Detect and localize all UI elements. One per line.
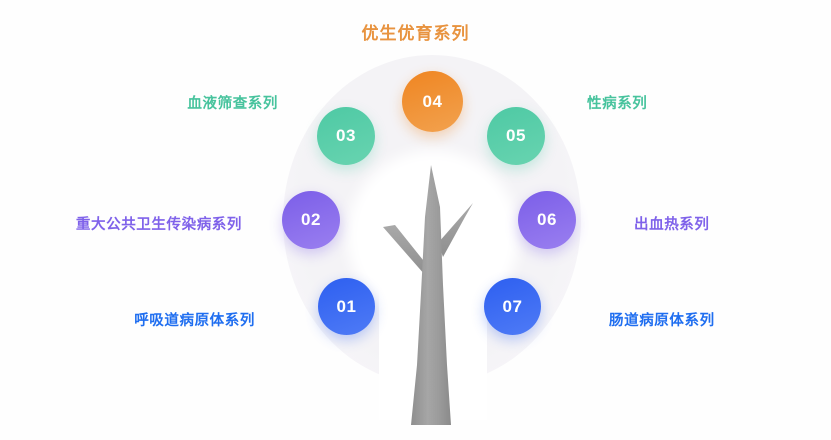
label-node-05[interactable]: 性病系列: [587, 92, 647, 113]
node-06[interactable]: 06: [518, 191, 576, 249]
node-06-number: 06: [537, 210, 557, 230]
node-04[interactable]: 04: [402, 71, 463, 132]
node-04-number: 04: [423, 92, 443, 112]
label-node-07[interactable]: 肠道病原体系列: [609, 309, 715, 330]
diagram-canvas: 优生优育系列 01 02: [0, 0, 831, 440]
node-07-number: 07: [503, 297, 523, 317]
node-02[interactable]: 02: [282, 191, 340, 249]
label-node-01[interactable]: 呼吸道病原体系列: [134, 309, 255, 330]
node-05[interactable]: 05: [487, 107, 545, 165]
page-title: 优生优育系列: [0, 19, 831, 44]
node-05-number: 05: [506, 126, 526, 146]
node-01[interactable]: 01: [318, 278, 375, 335]
node-03[interactable]: 03: [317, 107, 375, 165]
tree-icon: [355, 165, 505, 440]
label-node-06[interactable]: 出血热系列: [634, 213, 710, 234]
node-03-number: 03: [336, 126, 356, 146]
label-node-03[interactable]: 血液筛查系列: [187, 92, 278, 113]
label-node-02[interactable]: 重大公共卫生传染病系列: [76, 213, 242, 234]
node-07[interactable]: 07: [484, 278, 541, 335]
node-01-number: 01: [337, 297, 357, 317]
node-02-number: 02: [301, 210, 321, 230]
